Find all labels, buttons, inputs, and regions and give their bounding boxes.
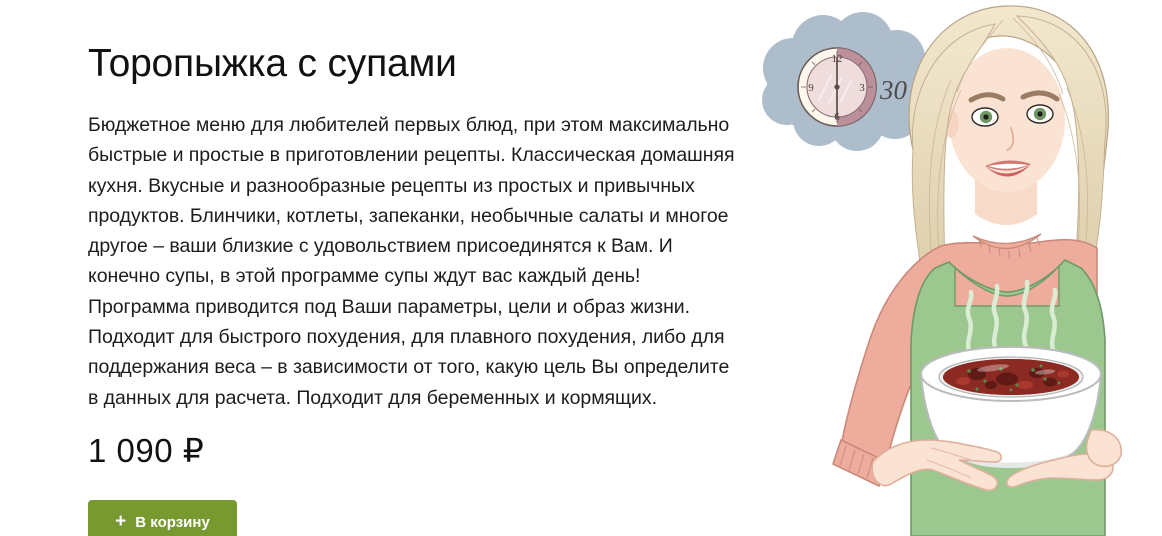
hero-illustration: 12 3 6 9 30 мин xyxy=(745,0,1162,536)
page-title: Торопыжка с супами xyxy=(88,40,748,88)
product-description: Бюджетное меню для любителей первых блюд… xyxy=(88,110,736,413)
plus-icon: + xyxy=(115,512,126,531)
product-price: 1 090 ₽ xyxy=(88,431,204,471)
product-card: Торопыжка с супами Бюджетное меню для лю… xyxy=(0,0,1162,536)
clock-icon: 12 3 6 9 xyxy=(798,48,876,126)
clock-numeral-9: 9 xyxy=(808,82,814,94)
product-info: Торопыжка с супами Бюджетное меню для лю… xyxy=(88,40,748,413)
add-to-cart-label: В корзину xyxy=(135,514,210,531)
add-to-cart-button[interactable]: + В корзину xyxy=(88,500,237,536)
clock-numeral-3: 3 xyxy=(859,82,865,94)
